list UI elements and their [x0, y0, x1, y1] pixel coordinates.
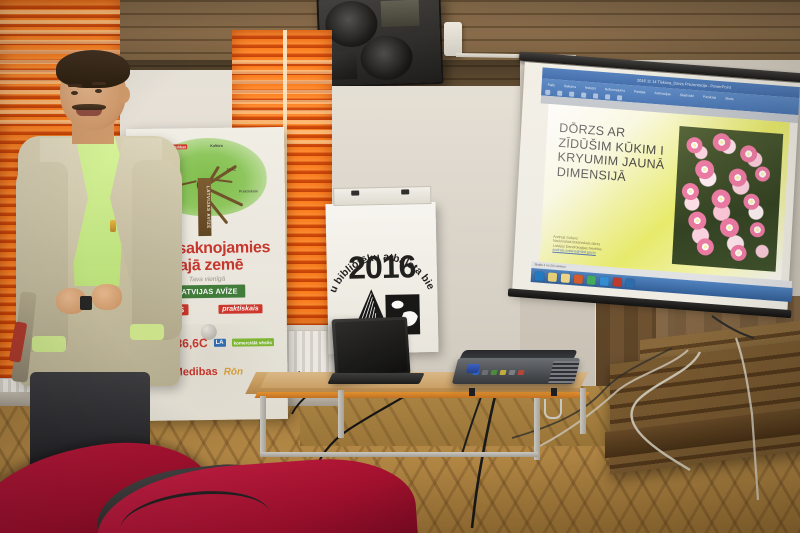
slide-flower-photo: [672, 126, 783, 272]
table-leg-front-right: [534, 398, 540, 460]
ribbon-icon-4[interactable]: [581, 92, 586, 97]
ribbon-tab-6[interactable]: Slaidrade: [680, 93, 695, 98]
tree-tag-5: Praktiskais: [239, 189, 258, 193]
projection-screen: 2016 11 14 Tiskuva_Darzs Prezentacija - …: [511, 60, 800, 331]
ribbon-icon-1[interactable]: [545, 90, 550, 95]
table-rail-front: [260, 452, 538, 457]
ribbon-icon-7[interactable]: [617, 95, 622, 100]
pdf-icon[interactable]: [613, 277, 622, 287]
ribbon-tab-4[interactable]: Parejas: [634, 89, 646, 94]
ribbon-tab-3[interactable]: Noformejums: [605, 87, 625, 93]
presenter-ear: [118, 86, 130, 103]
screen-surface: 2016 11 14 Tiskuva_Darzs Prezentacija - …: [512, 62, 800, 315]
table-leg-back-left: [338, 390, 344, 438]
ribbon-tab-7[interactable]: Parskats: [703, 95, 716, 100]
tree-trunk: LATVIJAS AVĪZE: [198, 178, 212, 236]
presentation-room-photo: 2016 11 14 Tiskuva_Darzs Prezentacija - …: [0, 0, 800, 533]
usb-port-icon: [508, 370, 515, 375]
hdmi-port-icon: [481, 370, 488, 375]
mail-icon[interactable]: [600, 276, 609, 286]
slide-canvas: DŌRZS AR ZĪDŪŠIM KŪKIM I KRYUMIM JAUNĀ D…: [540, 104, 790, 280]
presenter-brow-right: [92, 82, 106, 85]
ribbon-icon-2[interactable]: [557, 91, 562, 96]
presenter-eye-right: [95, 89, 102, 93]
lapel-pin: [110, 220, 116, 232]
ribbon-icon-5[interactable]: [593, 93, 598, 98]
ribbon-tab-1[interactable]: Sakums: [564, 84, 576, 89]
laptop[interactable]: [330, 318, 420, 388]
presenter-mouth: [76, 110, 102, 116]
ribbon-icon-3[interactable]: [569, 91, 574, 96]
ribbon-tab-2[interactable]: Ievietot: [585, 86, 596, 91]
explorer-icon[interactable]: [548, 272, 557, 282]
ribbon-tab-8[interactable]: Skats: [725, 96, 734, 101]
audio-port-icon: [490, 370, 497, 375]
media-icon[interactable]: [574, 274, 583, 284]
sign-clip-right: [401, 189, 409, 194]
projector[interactable]: [455, 350, 583, 398]
presenter-brow-left: [68, 84, 82, 87]
shirt-cuff-right: [130, 324, 164, 340]
projector-vent: [548, 361, 579, 383]
chrome-icon[interactable]: [587, 275, 596, 285]
start-icon[interactable]: [535, 271, 544, 281]
video-port-icon: [499, 370, 506, 375]
logo-praktiskais: praktiskais: [218, 304, 263, 314]
tree-tag-1: Kultūra: [210, 144, 223, 148]
logo-la: LA: [214, 339, 226, 347]
trunk-label: LATVIJAS AVĪZE: [198, 186, 212, 229]
laptop-base: [327, 373, 424, 384]
ribbon-tab-5[interactable]: Animacijas: [654, 91, 671, 96]
presentation-clicker[interactable]: [80, 296, 92, 310]
logo-komercinfo: komerciālā vēstis: [232, 338, 274, 347]
power-port-icon: [517, 370, 524, 375]
sign-clip-left: [351, 190, 359, 195]
slide-title: DŌRZS AR ZĪDŪŠIM KŪKIM I KRYUMIM JAUNĀ D…: [556, 121, 679, 188]
ribbon-tab-0[interactable]: Fails: [548, 83, 555, 88]
logo-rankis: Rōn: [224, 366, 244, 377]
shirt-cuff-left: [32, 336, 66, 352]
app-icon[interactable]: [625, 278, 634, 288]
vga-cable-plug: [466, 364, 480, 373]
ribbon-icon-6[interactable]: [605, 94, 610, 99]
presenter-eye-left: [71, 91, 78, 95]
tree-tag-4: 36,6C: [227, 168, 237, 172]
projector-foot-right: [551, 388, 557, 396]
folder-icon[interactable]: [561, 273, 570, 283]
laptop-screen-back: [335, 320, 408, 379]
presenter-hand-right: [92, 284, 122, 310]
presenter-arm-right: [132, 160, 182, 340]
table-leg-front-left: [260, 396, 266, 454]
slide-credit-block: Andrejs Svilans Nacionalais botaniskais …: [552, 234, 673, 262]
projector-foot-left: [469, 388, 475, 396]
presenter: [14, 52, 182, 452]
projector-port-panel: [472, 369, 544, 376]
table-cable-hook: [544, 399, 562, 419]
sign-header-strip: [333, 186, 431, 206]
